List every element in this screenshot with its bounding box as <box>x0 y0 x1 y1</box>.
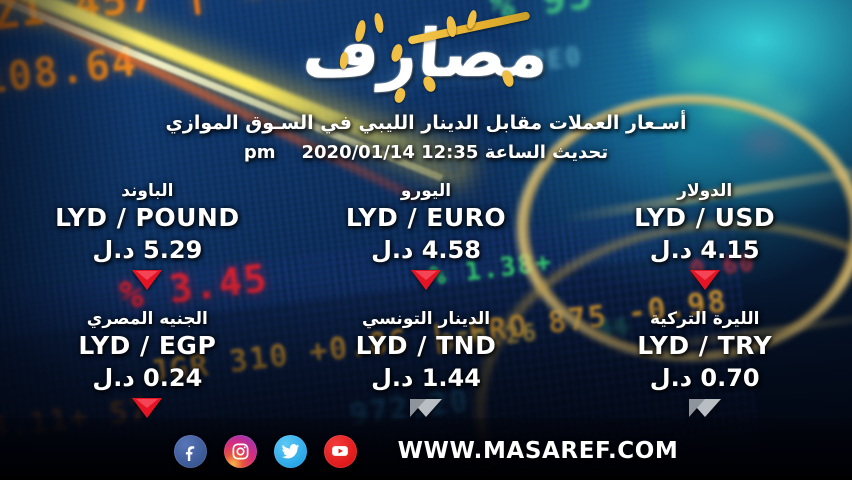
trend-down-icon <box>411 270 441 290</box>
rate-currency-pair: LYD / POUND <box>55 203 239 232</box>
rate-value: 0.70 د.ل <box>650 364 760 392</box>
rate-currency-pair: LYD / TRY <box>637 331 772 360</box>
rate-currency-name: الليرة التركية <box>650 308 759 330</box>
rate-card-try[interactable]: الليرة التركية LYD / TRY 0.70 د.ل <box>565 304 844 432</box>
rate-currency-name: الدينار التونسي <box>362 308 490 330</box>
website-url[interactable]: WWW.MASAREF.COM <box>398 438 679 464</box>
rate-card-usd[interactable]: الدولار LYD / USD 4.15 د.ل <box>565 176 844 304</box>
footer-bar: WWW.MASAREF.COM <box>0 422 852 480</box>
rate-value: 4.58 د.ل <box>371 236 481 264</box>
brand-logo: مصارف <box>0 2 852 106</box>
rate-value: 4.15 د.ل <box>650 236 760 264</box>
rate-currency-name: اليورو <box>401 180 451 202</box>
rate-value: 1.44 د.ل <box>371 364 481 392</box>
rate-value: 0.24 د.ل <box>92 364 202 392</box>
page-title: أسـعار العملات مقابل الدينار الليبي في ا… <box>0 112 852 134</box>
youtube-icon[interactable] <box>324 435 357 468</box>
facebook-icon[interactable] <box>174 435 207 468</box>
trend-down-icon <box>132 270 162 290</box>
rate-currency-name: الدولار <box>677 180 732 202</box>
rates-grid: الدولار LYD / USD 4.15 د.ل اليورو LYD / … <box>8 176 844 432</box>
instagram-icon[interactable] <box>224 435 257 468</box>
twitter-icon[interactable] <box>274 435 307 468</box>
rate-trend <box>689 397 721 419</box>
rate-trend <box>132 397 162 419</box>
rate-currency-pair: LYD / EGP <box>78 331 216 360</box>
update-time-label: تحديث الساعة 12:35 pm <box>244 142 608 163</box>
trend-down-icon <box>132 398 162 418</box>
rate-trend <box>132 269 162 291</box>
rate-card-pound[interactable]: الباوند LYD / POUND 5.29 د.ل <box>8 176 287 304</box>
rate-currency-pair: LYD / EURO <box>346 203 506 232</box>
rate-trend <box>411 269 441 291</box>
update-line: تحديث الساعة 12:35 pm2020/01/14 <box>0 142 852 163</box>
rate-currency-name: الجنيه المصري <box>87 308 208 330</box>
rate-currency-name: الباوند <box>121 180 173 202</box>
rate-trend <box>410 397 442 419</box>
rate-card-euro[interactable]: اليورو LYD / EURO 4.58 د.ل <box>287 176 566 304</box>
infographic-canvas: 234 +4.88 | HZI 457 108.64 95 % 2E0 3.45… <box>0 0 852 480</box>
rate-currency-pair: LYD / TND <box>356 331 497 360</box>
rate-card-tnd[interactable]: الدينار التونسي LYD / TND 1.44 د.ل <box>287 304 566 432</box>
rate-card-egp[interactable]: الجنيه المصري LYD / EGP 0.24 د.ل <box>8 304 287 432</box>
trend-flat-icon <box>689 399 721 417</box>
rate-currency-pair: LYD / USD <box>634 203 775 232</box>
trend-flat-icon <box>410 399 442 417</box>
rate-value: 5.29 د.ل <box>92 236 202 264</box>
rate-trend <box>690 269 720 291</box>
trend-down-icon <box>690 270 720 290</box>
update-date: 2020/01/14 <box>302 142 415 163</box>
